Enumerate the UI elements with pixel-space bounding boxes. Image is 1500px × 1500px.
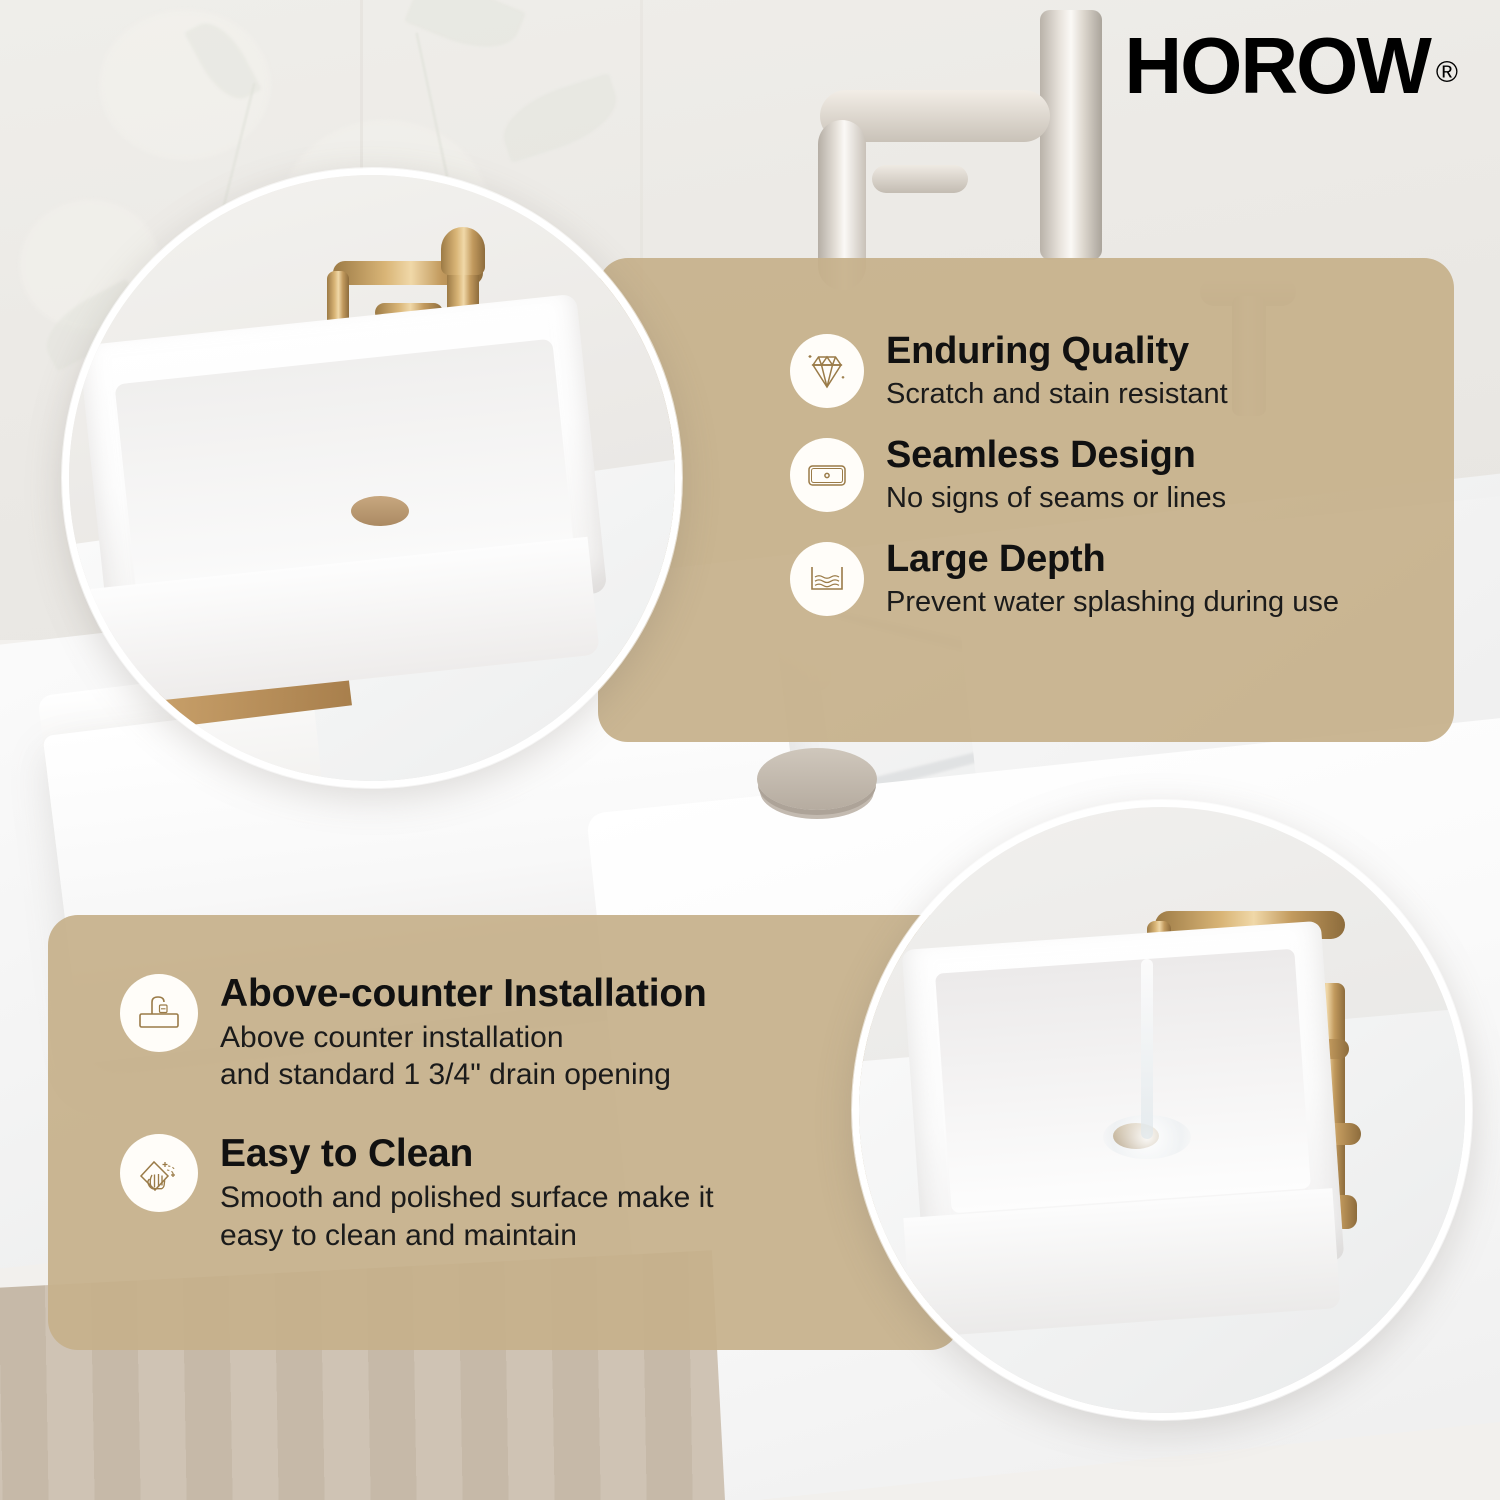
feature-description: Prevent water splashing during use: [886, 584, 1339, 621]
feature-title: Large Depth: [886, 538, 1339, 581]
feature-item: Large Depth Prevent water splashing duri…: [790, 538, 1430, 620]
feature-item: Seamless Design No signs of seams or lin…: [790, 434, 1430, 516]
feature-title: Enduring Quality: [886, 330, 1228, 373]
sink-drain: [351, 496, 409, 526]
drain-cap: [757, 748, 877, 810]
cleaning-hand-icon: [120, 1134, 198, 1212]
water-stream: [1141, 959, 1153, 1139]
feature-description: Scratch and stain resistant: [886, 376, 1228, 413]
feature-description: Above counter installation and standard …: [220, 1019, 707, 1095]
bottom-feature-list: Above-counter Installation Above counter…: [120, 972, 820, 1293]
feature-item: Easy to Clean Smooth and polished surfac…: [120, 1132, 820, 1254]
sink-faucet-icon: [120, 974, 198, 1052]
feature-title: Easy to Clean: [220, 1132, 714, 1176]
registered-trademark-icon: ®: [1436, 58, 1458, 88]
feature-title: Above-counter Installation: [220, 972, 707, 1016]
top-feature-list: Enduring Quality Scratch and stain resis…: [790, 330, 1430, 642]
diamond-gem-icon: [790, 334, 864, 408]
background-faucet-handle: [872, 165, 968, 193]
feature-description: No signs of seams or lines: [886, 480, 1226, 517]
feature-title: Seamless Design: [886, 434, 1226, 477]
feature-description: Smooth and polished surface make it easy…: [220, 1179, 714, 1255]
product-photo-inset-bottom: [852, 800, 1472, 1420]
brand-logo: HOROW ®: [1124, 26, 1458, 106]
gold-faucet-cap: [441, 227, 485, 275]
water-depth-icon: [790, 542, 864, 616]
product-photo-inset-top: [62, 168, 682, 788]
brand-name: HOROW: [1124, 26, 1430, 106]
feature-item: Above-counter Installation Above counter…: [120, 972, 820, 1094]
feature-item: Enduring Quality Scratch and stain resis…: [790, 330, 1430, 412]
sink-basin-icon: [790, 438, 864, 512]
